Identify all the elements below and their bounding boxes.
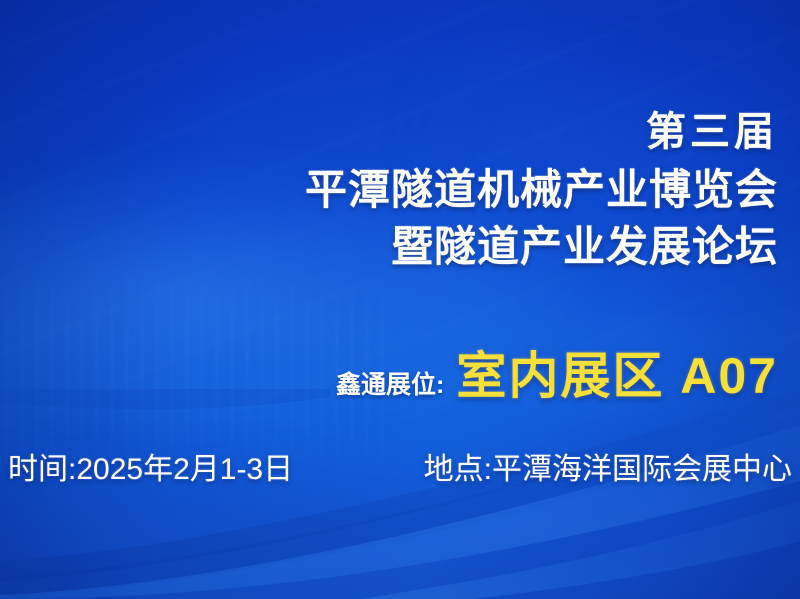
event-details-row: 时间:2025年2月1-3日 地点:平潭海洋国际会展中心 [8, 444, 792, 488]
title-line-edition: 第三届 [18, 104, 778, 161]
event-date: 时间:2025年2月1-3日 [8, 444, 293, 488]
title-line-forum-name: 暨隧道产业发展论坛 [18, 218, 778, 275]
booth-number: 室内展区 A07 [456, 336, 778, 408]
event-venue: 地点:平潭海洋国际会展中心 [424, 444, 792, 488]
booth-info-row: 鑫通展位: 室内展区 A07 [8, 336, 778, 408]
exhibition-poster: 第三届 平潭隧道机械产业博览会 暨隧道产业发展论坛 鑫通展位: 室内展区 A07… [0, 0, 800, 599]
poster-content: 第三届 平潭隧道机械产业博览会 暨隧道产业发展论坛 鑫通展位: 室内展区 A07… [0, 0, 800, 599]
event-title-block: 第三届 平潭隧道机械产业博览会 暨隧道产业发展论坛 [18, 104, 778, 275]
booth-label: 鑫通展位: [336, 365, 444, 401]
title-line-expo-name: 平潭隧道机械产业博览会 [18, 161, 778, 218]
